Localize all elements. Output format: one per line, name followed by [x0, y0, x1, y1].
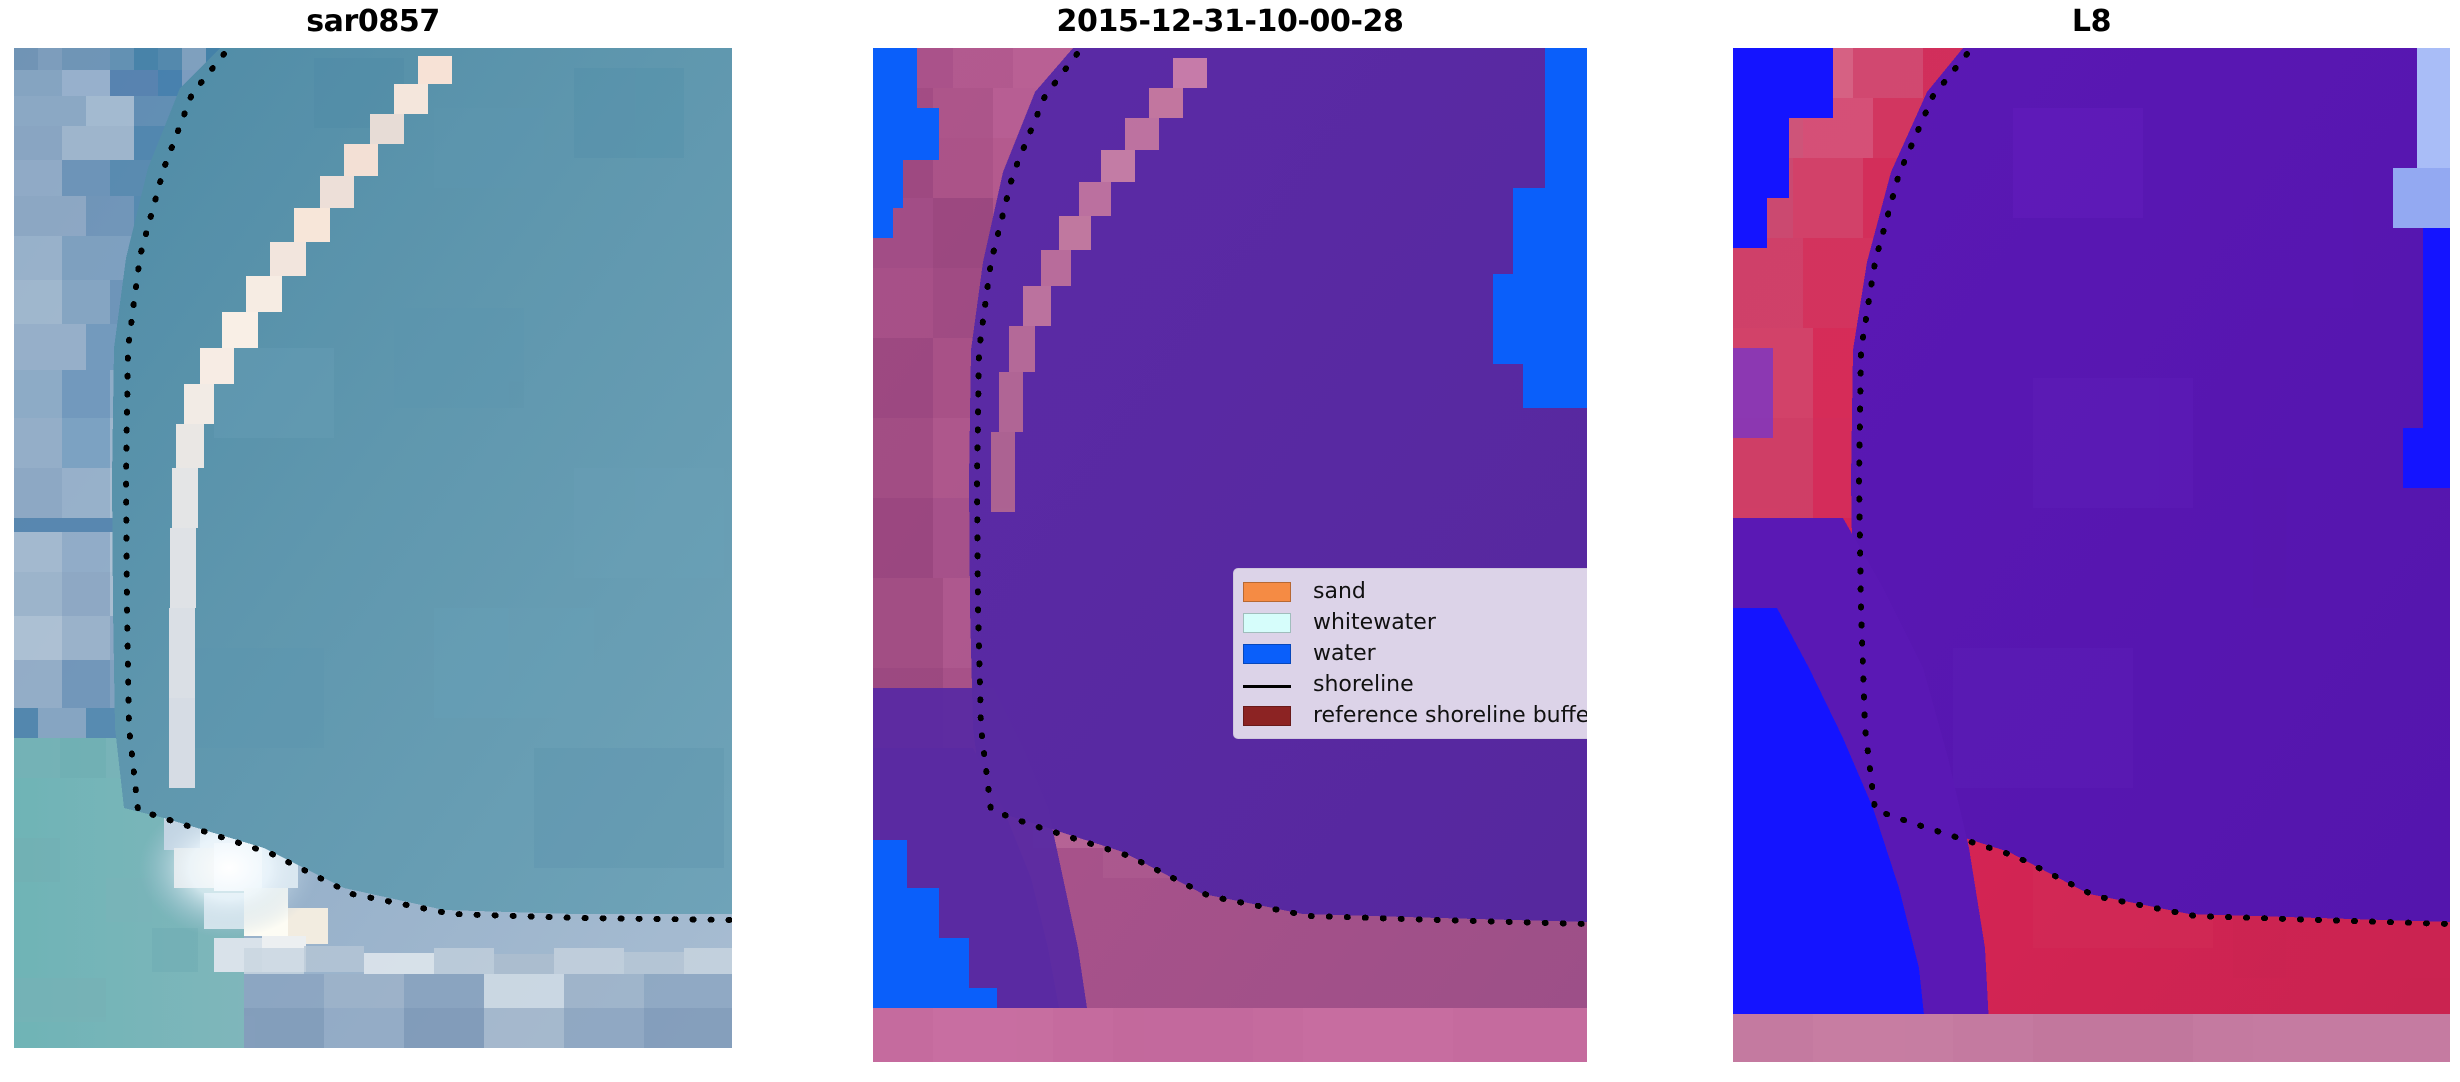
- sar-raster-image: [14, 48, 732, 1048]
- legend-item-whitewater: whitewater: [1243, 607, 1585, 638]
- legend-box: sand whitewater water shoreline referenc: [1233, 568, 1587, 739]
- legend-label-water: water: [1313, 643, 1376, 665]
- water-color-swatch: [1243, 644, 1291, 664]
- legend-label-reference-buffer: reference shoreline buffer: [1313, 705, 1587, 727]
- panel-l8: L8: [1733, 0, 2450, 1082]
- panel-classification: 2015-12-31-10-00-28: [873, 0, 1587, 1082]
- image-axes-classification[interactable]: sand whitewater water shoreline referenc: [873, 48, 1587, 1062]
- panel-title-classification: 2015-12-31-10-00-28: [873, 4, 1587, 39]
- legend-item-shoreline: shoreline: [1243, 669, 1585, 700]
- shoreline-line-sample: [1243, 675, 1291, 695]
- legend-item-water: water: [1243, 638, 1585, 669]
- image-axes-l8[interactable]: [1733, 48, 2450, 1062]
- l8-raster-image: [1733, 48, 2450, 1062]
- legend-item-reference-buffer: reference shoreline buffer: [1243, 700, 1585, 731]
- figure-canvas: sar0857: [0, 0, 2460, 1082]
- legend-label-sand: sand: [1313, 581, 1366, 603]
- whitewater-color-swatch: [1243, 613, 1291, 633]
- image-axes-sar[interactable]: [14, 48, 732, 1048]
- sand-color-swatch: [1243, 582, 1291, 602]
- panel-title-l8: L8: [1733, 4, 2450, 39]
- classification-raster-image: [873, 48, 1587, 1062]
- panel-title-sar: sar0857: [14, 4, 732, 39]
- legend-item-sand: sand: [1243, 576, 1585, 607]
- legend-label-whitewater: whitewater: [1313, 612, 1436, 634]
- legend-label-shoreline: shoreline: [1313, 674, 1414, 696]
- panel-sar: sar0857: [14, 0, 732, 1082]
- reference-buffer-color-swatch: [1243, 706, 1291, 726]
